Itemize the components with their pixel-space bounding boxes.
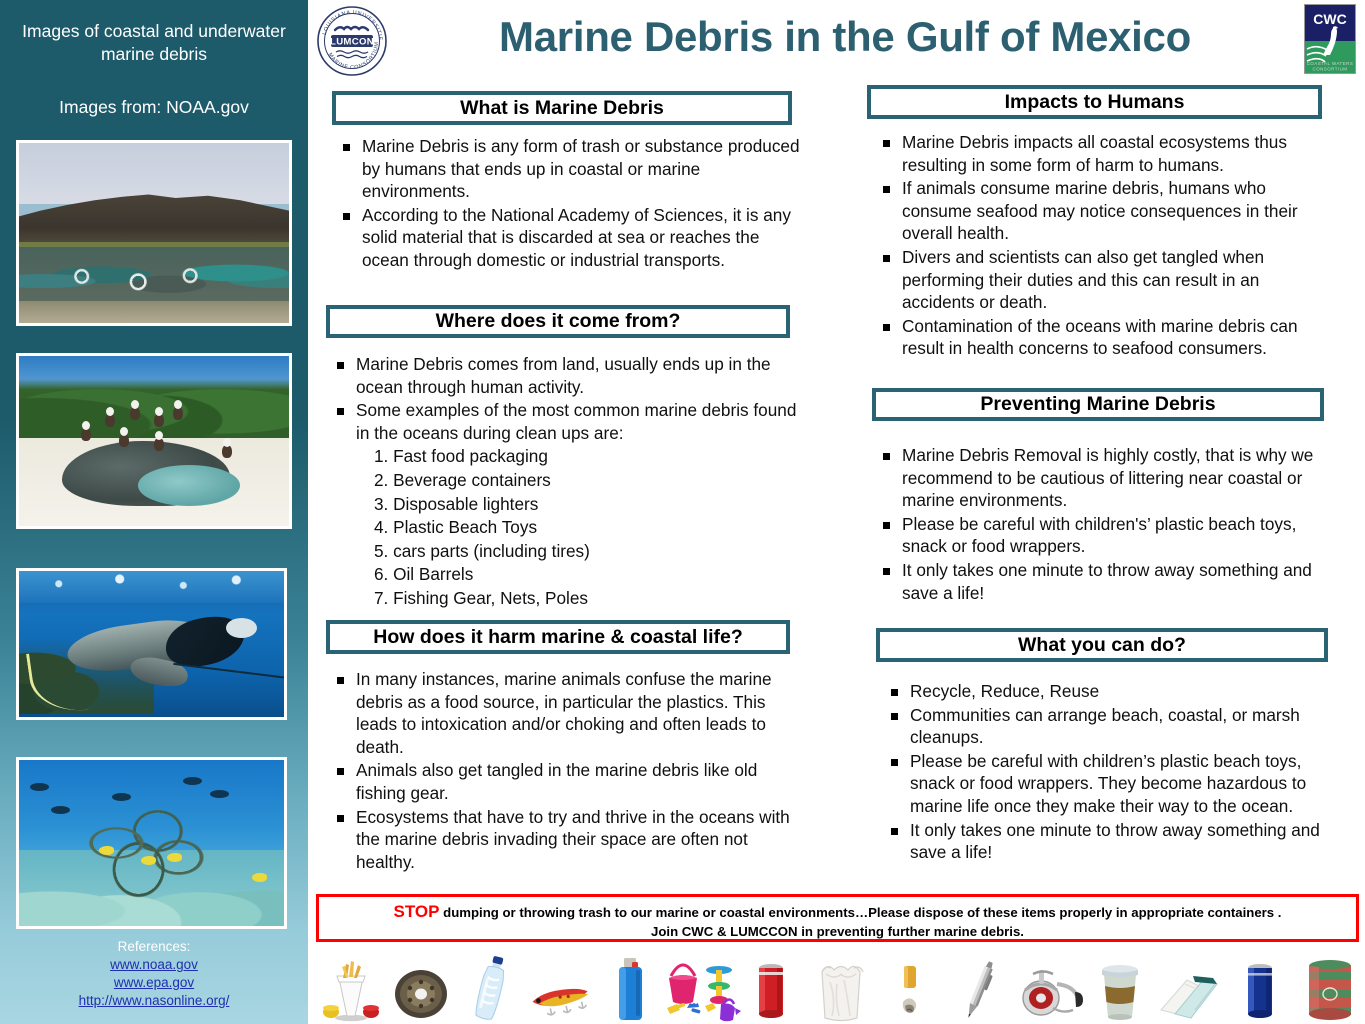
photo4-butterflyfish — [167, 853, 182, 862]
photo4-butterflyfish — [141, 856, 156, 865]
plastic-bag-icon — [806, 952, 876, 1024]
photo-derelict-nets-on-rocky-shore — [16, 140, 292, 326]
list-item: 2. Beverage containers — [374, 469, 800, 492]
section-body-what-is-marine-debris: Marine Debris is any form of trash or su… — [336, 135, 806, 273]
soda-can-blue-icon — [1225, 952, 1295, 1024]
list-item: Please be careful with children's’ plast… — [876, 513, 1336, 558]
list-item: Please be careful with children’s plasti… — [884, 750, 1339, 818]
references-block: References: www.noaa.gov www.epa.gov htt… — [0, 938, 308, 1010]
photo1-ropes — [41, 262, 268, 298]
photo4-butterflyfish — [252, 873, 267, 882]
section-body-where-does-it-come-from: Marine Debris comes from land, usually e… — [330, 353, 800, 611]
list-item: Marine Debris comes from land, usually e… — [330, 353, 800, 398]
page-title: Marine Debris in the Gulf of Mexico — [400, 13, 1290, 61]
references-label: References: — [0, 938, 308, 956]
list-item: Some examples of the most common marine … — [330, 399, 800, 444]
photo3-surface-glints — [19, 571, 284, 603]
coffee-cup-icon — [1085, 952, 1155, 1024]
oil-barrel-icon — [1295, 952, 1365, 1024]
list-item: If animals consume marine debris, humans… — [876, 177, 1336, 245]
section-heading-where-does-it-come-from: Where does it come from? — [326, 305, 790, 338]
lighter-icon — [596, 952, 666, 1024]
stop-banner-line-2: Join CWC & LUMCCON in preventing further… — [319, 922, 1356, 941]
list-item: 3. Disposable lighters — [374, 493, 800, 516]
photo4-butterflyfish — [99, 846, 114, 855]
tire-wheel-icon — [386, 952, 456, 1024]
photo4-dark-fish — [210, 790, 229, 798]
water-bottle-icon — [456, 952, 526, 1024]
fries-cone-icon — [316, 952, 386, 1024]
napkins-icon — [1155, 952, 1225, 1024]
cwc-logo: CWC COASTAL WATERS CONSORTIUM — [1304, 4, 1356, 74]
stop-banner-line-1: STOP dumping or throwing trash to our ma… — [319, 902, 1356, 922]
photo2-net-pile-teal — [138, 465, 241, 506]
soda-can-red-icon — [736, 952, 806, 1024]
beach-toys-icon — [666, 952, 736, 1024]
reference-link-nasonline[interactable]: http://www.nasonline.org/ — [0, 992, 308, 1010]
list-item: Marine Debris Removal is highly costly, … — [876, 444, 1336, 512]
list-item: Animals also get tangled in the marine d… — [330, 759, 800, 804]
photo2-seabird — [105, 407, 115, 427]
list-item: Communities can arrange beach, coastal, … — [884, 704, 1339, 749]
sidebar-caption-images: Images of coastal and underwater marine … — [0, 20, 308, 66]
svg-text:LUMCON: LUMCON — [330, 37, 374, 48]
poster-canvas: Images of coastal and underwater marine … — [0, 0, 1365, 1024]
list-item: 6. Oil Barrels — [374, 563, 800, 586]
section-heading-preventing-marine-debris: Preventing Marine Debris — [872, 388, 1324, 421]
list-item: Ecosystems that have to try and thrive i… — [330, 806, 800, 874]
list-item: Recycle, Reduce, Reuse — [884, 680, 1339, 703]
list-item: 7. Fishing Gear, Nets, Poles — [374, 587, 800, 610]
photo2-seabird — [130, 400, 140, 420]
section-heading-what-is-marine-debris: What is Marine Debris — [332, 91, 792, 125]
photo-seal-entangled-with-diver — [16, 568, 287, 720]
list-item: According to the National Academy of Sci… — [336, 204, 806, 272]
list-item: 4. Plastic Beach Toys — [374, 516, 800, 539]
list-item: It only takes one minute to throw away s… — [884, 819, 1339, 864]
photo2-seabird — [119, 427, 129, 447]
lumcon-seal-logo: LUMCON LOUISIANA UNIVERSITIES MARINE CON… — [313, 4, 391, 78]
photo2-seabird — [154, 431, 164, 451]
list-item: It only takes one minute to throw away s… — [876, 559, 1336, 604]
section-heading-impacts-to-humans: Impacts to Humans — [867, 85, 1322, 119]
image-sidebar: Images of coastal and underwater marine … — [0, 0, 308, 1024]
stop-word: STOP — [394, 902, 440, 921]
svg-text:CONSORTIUM: CONSORTIUM — [1313, 67, 1348, 72]
stop-banner-line-1-rest: dumping or throwing trash to our marine … — [440, 905, 1282, 920]
debris-items-photo-strip — [316, 947, 1365, 1024]
list-item: Divers and scientists can also get tangl… — [876, 246, 1336, 314]
section-body-impacts-to-humans: Marine Debris impacts all coastal ecosys… — [876, 131, 1336, 361]
fishing-reel-icon — [1015, 952, 1085, 1024]
numbered-debris-list: 1. Fast food packaging 2. Beverage conta… — [374, 445, 800, 609]
reference-link-noaa[interactable]: www.noaa.gov — [0, 956, 308, 974]
list-item: Marine Debris is any form of trash or su… — [336, 135, 806, 203]
list-item: Marine Debris impacts all coastal ecosys… — [876, 131, 1336, 176]
list-item: In many instances, marine animals confus… — [330, 668, 800, 758]
list-item: 1. Fast food packaging — [374, 445, 800, 468]
svg-text:CWC: CWC — [1313, 11, 1346, 27]
photo-seabirds-on-net-pile — [16, 353, 292, 529]
photo2-seabird — [222, 438, 232, 458]
reference-link-epa[interactable]: www.epa.gov — [0, 974, 308, 992]
list-item: 5. cars parts (including tires) — [374, 540, 800, 563]
list-item: Contamination of the oceans with marine … — [876, 315, 1336, 360]
photo2-seabird — [154, 407, 164, 427]
photo-net-debris-on-coral-reef — [16, 757, 287, 929]
photo1-sand — [19, 301, 289, 323]
sidebar-caption-credit: Images from: NOAA.gov — [0, 96, 308, 119]
svg-text:COASTAL WATERS: COASTAL WATERS — [1307, 61, 1354, 66]
cigarette-butt-icon — [876, 952, 946, 1024]
section-body-how-does-it-harm: In many instances, marine animals confus… — [330, 668, 800, 874]
stop-call-to-action-banner: STOP dumping or throwing trash to our ma… — [316, 894, 1359, 942]
section-body-preventing-marine-debris: Marine Debris Removal is highly costly, … — [876, 444, 1336, 605]
pen-icon — [945, 952, 1015, 1024]
section-body-what-you-can-do: Recycle, Reduce, Reuse Communities can a… — [884, 680, 1339, 865]
fishing-lure-icon — [526, 952, 596, 1024]
photo4-net-tangle — [72, 783, 220, 903]
section-heading-what-you-can-do: What you can do? — [876, 628, 1328, 662]
photo4-dark-fish — [183, 777, 202, 785]
photo1-sky — [19, 143, 289, 204]
section-heading-how-does-it-harm: How does it harm marine & coastal life? — [326, 620, 790, 654]
photo2-seabird — [81, 421, 91, 441]
photo2-seabird — [173, 400, 183, 420]
